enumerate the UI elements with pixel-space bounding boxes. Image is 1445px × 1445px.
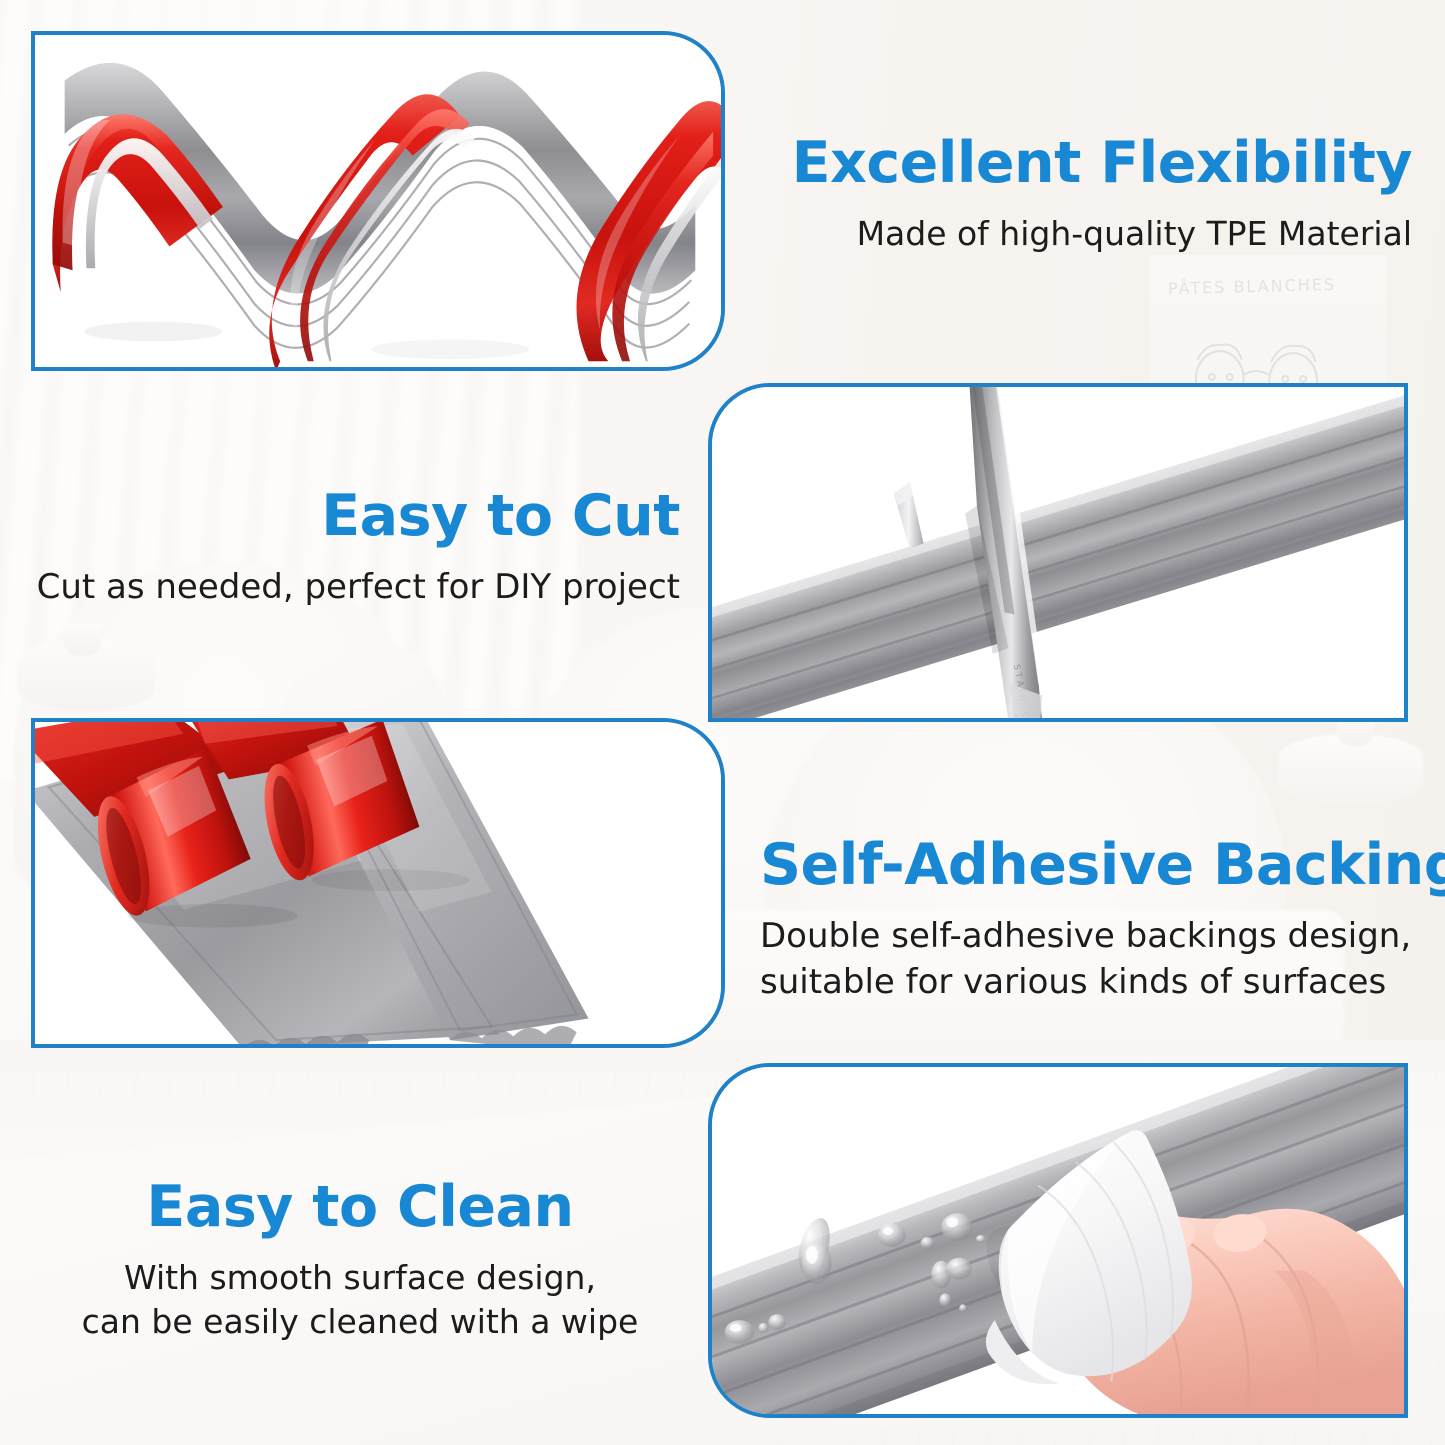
subtitle-flexibility: Made of high-quality TPE Material <box>752 212 1412 257</box>
scissors-cutting-illustration: S T A I N L E S S <box>712 387 1404 718</box>
panel-clean-image <box>712 1067 1404 1414</box>
feature-panel-easy-to-clean <box>708 1063 1408 1418</box>
wavy-strip-illustration <box>35 35 721 367</box>
feature-panel-self-adhesive <box>31 718 725 1048</box>
text-block-self-adhesive: Self-Adhesive Backing Double self-adhesi… <box>760 836 1420 1006</box>
subtitle-self-adhesive-line2: suitable for various kinds of surfaces <box>760 960 1420 1006</box>
feature-panel-easy-to-cut: S T A I N L E S S <box>708 383 1408 722</box>
subtitle-easy-to-clean-line1: With smooth surface design, <box>30 1256 690 1301</box>
adhesive-liner-illustration <box>35 722 721 1044</box>
panel-flexibility-image <box>35 35 721 367</box>
infographic-canvas: PÂTES BLANCHES <box>0 0 1445 1445</box>
panel-adhesive-image <box>35 722 721 1044</box>
headline-easy-to-clean: Easy to Clean <box>30 1178 690 1238</box>
panel-cut-image: S T A I N L E S S <box>712 387 1404 718</box>
headline-easy-to-cut: Easy to Cut <box>20 487 680 547</box>
hand-wiping-illustration <box>712 1067 1404 1414</box>
text-block-flexibility: Excellent Flexibility Made of high-quali… <box>752 134 1412 256</box>
subtitle-easy-to-cut: Cut as needed, perfect for DIY project <box>20 565 680 611</box>
feature-panel-flexibility <box>31 31 725 371</box>
headline-flexibility: Excellent Flexibility <box>752 134 1412 194</box>
subtitle-easy-to-clean-line2: can be easily cleaned with a wipe <box>30 1300 690 1345</box>
text-block-easy-to-cut: Easy to Cut Cut as needed, perfect for D… <box>20 487 680 611</box>
headline-self-adhesive: Self-Adhesive Backing <box>760 836 1420 896</box>
subtitle-self-adhesive-line1: Double self-adhesive backings design, <box>760 914 1420 960</box>
text-block-easy-to-clean: Easy to Clean With smooth surface design… <box>30 1178 690 1345</box>
